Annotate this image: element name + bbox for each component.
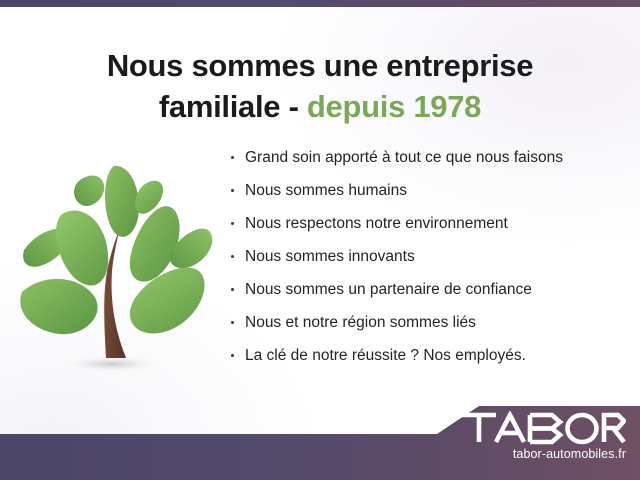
slide-canvas: Nous sommes une entreprise familiale - d…	[0, 0, 640, 480]
list-item-label: La clé de notre réussite ? Nos employés.	[245, 347, 526, 364]
bullet-dot-icon	[231, 222, 234, 225]
headline-line-1: Nous sommes une entreprise	[26, 45, 614, 86]
bullet-dot-icon	[231, 321, 234, 324]
bullet-dot-icon	[231, 255, 234, 258]
tree-illustration	[14, 152, 222, 394]
list-item: Nous sommes innovants	[228, 247, 630, 268]
leaf-center	[105, 166, 139, 237]
leaf-top-small	[74, 175, 104, 206]
footer-shape	[0, 400, 640, 480]
list-item-label: Nous sommes innovants	[245, 248, 415, 265]
list-item-label: Nous et notre région sommes liés	[245, 314, 476, 331]
footer-band: tabor-automobiles.fr	[0, 400, 640, 480]
list-item: Grand soin apporté à tout ce que nous fa…	[228, 148, 630, 169]
top-accent-bar	[0, 0, 640, 7]
list-item: Nous respectons notre environnement	[228, 214, 630, 235]
footer-background	[0, 406, 640, 480]
tree-icon	[14, 152, 222, 394]
list-item-label: Grand soin apporté à tout ce que nous fa…	[245, 149, 563, 166]
bullet-dot-icon	[231, 156, 234, 159]
list-item: La clé de notre réussite ? Nos employés.	[228, 346, 630, 367]
tree-trunk	[104, 224, 126, 358]
list-item-label: Nous sommes un partenaire de confiance	[245, 281, 532, 298]
list-item-label: Nous sommes humains	[245, 182, 407, 199]
headline-accent: depuis 1978	[307, 89, 481, 124]
value-list: Grand soin apporté à tout ce que nous fa…	[228, 148, 630, 366]
list-item-label: Nous respectons notre environnement	[245, 215, 508, 232]
headline-line-2-main: familiale -	[159, 89, 307, 124]
leaf-left-lower	[20, 279, 97, 334]
bullet-dot-icon	[231, 288, 234, 291]
bullet-dot-icon	[231, 189, 234, 192]
list-item: Nous et notre région sommes liés	[228, 313, 630, 334]
bullet-dot-icon	[231, 354, 234, 357]
list-item: Nous sommes humains	[228, 181, 630, 202]
headline-line-2: familiale - depuis 1978	[26, 86, 614, 127]
page-title: Nous sommes une entreprise familiale - d…	[0, 45, 640, 127]
list-item: Nous sommes un partenaire de confiance	[228, 280, 630, 301]
leaf-left-mid	[56, 210, 108, 285]
